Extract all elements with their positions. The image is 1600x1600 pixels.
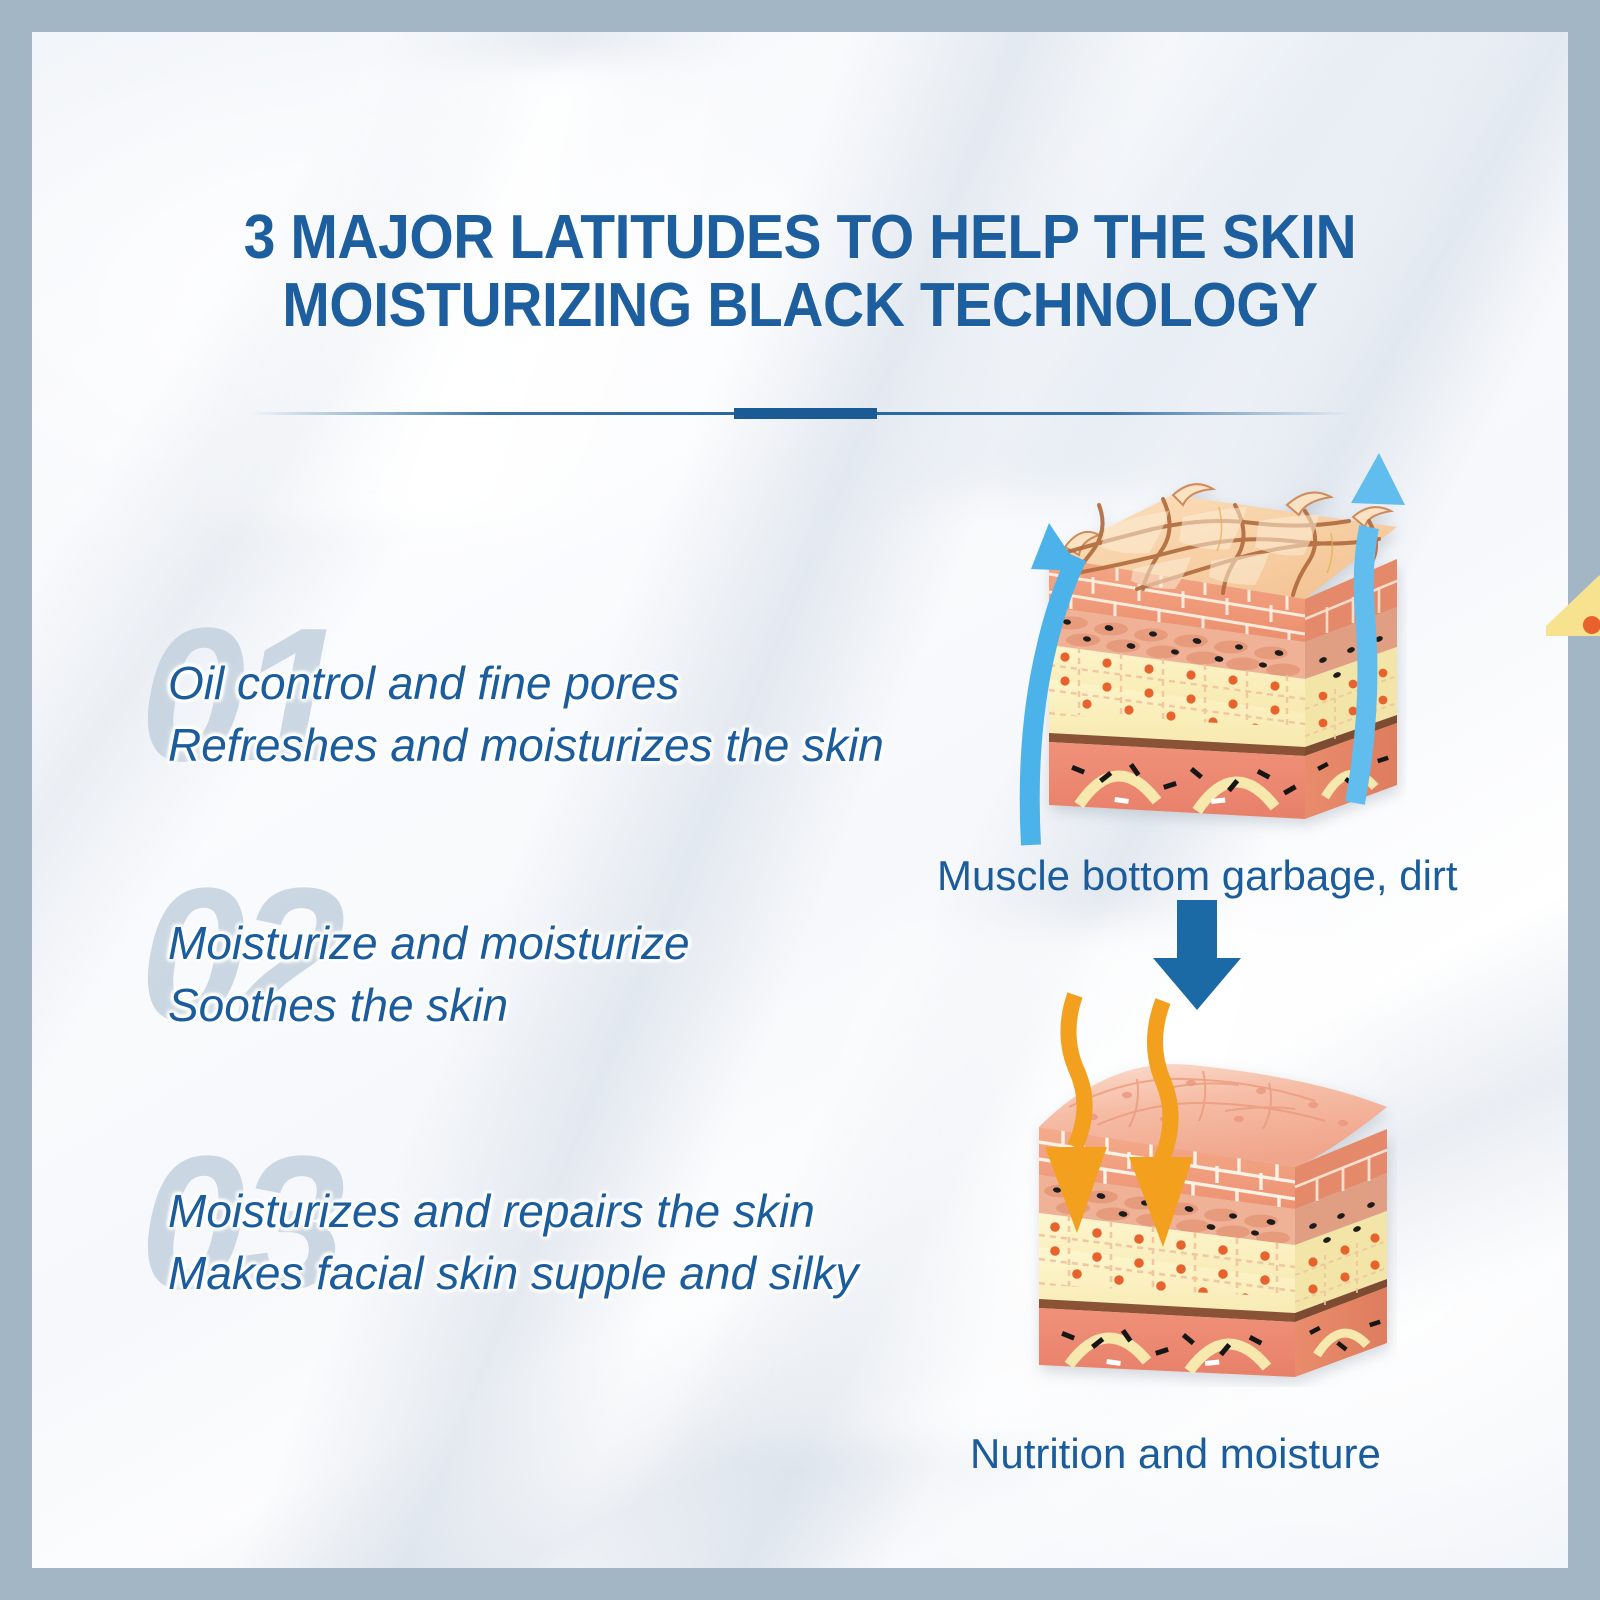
benefit-03-line-1: Moisturizes and repairs the skin — [168, 1180, 970, 1242]
benefit-01-line-1: Oil control and fine pores — [168, 652, 970, 714]
poster-frame: 3 MAJOR LATITUDES TO HELP THE SKIN MOIST… — [0, 0, 1600, 1600]
dry-skin-caption: Muscle bottom garbage, dirt — [937, 850, 1458, 902]
hydrated-skin-diagram — [977, 987, 1397, 1387]
benefit-02-line-1: Moisturize and moisturize — [168, 912, 970, 974]
title-line-2: MOISTURIZING BLACK TECHNOLOGY — [93, 272, 1506, 340]
benefit-03-line-2: Makes facial skin supple and silky — [168, 1242, 970, 1304]
benefit-item-02: 02 Moisturize and moisturize Soothes the… — [140, 912, 970, 1036]
benefit-item-01: 01 Oil control and fine pores Refreshes … — [140, 652, 970, 776]
benefit-01-line-2: Refreshes and moisturizes the skin — [168, 714, 970, 776]
benefit-text-03: Moisturizes and repairs the skin Makes f… — [140, 1180, 970, 1304]
poster-canvas: 3 MAJOR LATITUDES TO HELP THE SKIN MOIST… — [32, 32, 1568, 1568]
title-line-1: 3 MAJOR LATITUDES TO HELP THE SKIN — [93, 204, 1506, 272]
dry-skin-diagram — [987, 447, 1407, 847]
title-divider — [250, 407, 1350, 421]
benefit-text-01: Oil control and fine pores Refreshes and… — [140, 652, 970, 776]
benefit-item-03: 03 Moisturizes and repairs the skin Make… — [140, 1180, 970, 1304]
benefit-text-02: Moisturize and moisturize Soothes the sk… — [140, 912, 970, 1036]
divider-center-bar — [734, 408, 877, 419]
edge-skin-fragment — [1546, 566, 1600, 636]
hydrated-skin-caption: Nutrition and moisture — [970, 1428, 1381, 1480]
page-title: 3 MAJOR LATITUDES TO HELP THE SKIN MOIST… — [32, 204, 1568, 340]
benefit-02-line-2: Soothes the skin — [168, 974, 970, 1036]
